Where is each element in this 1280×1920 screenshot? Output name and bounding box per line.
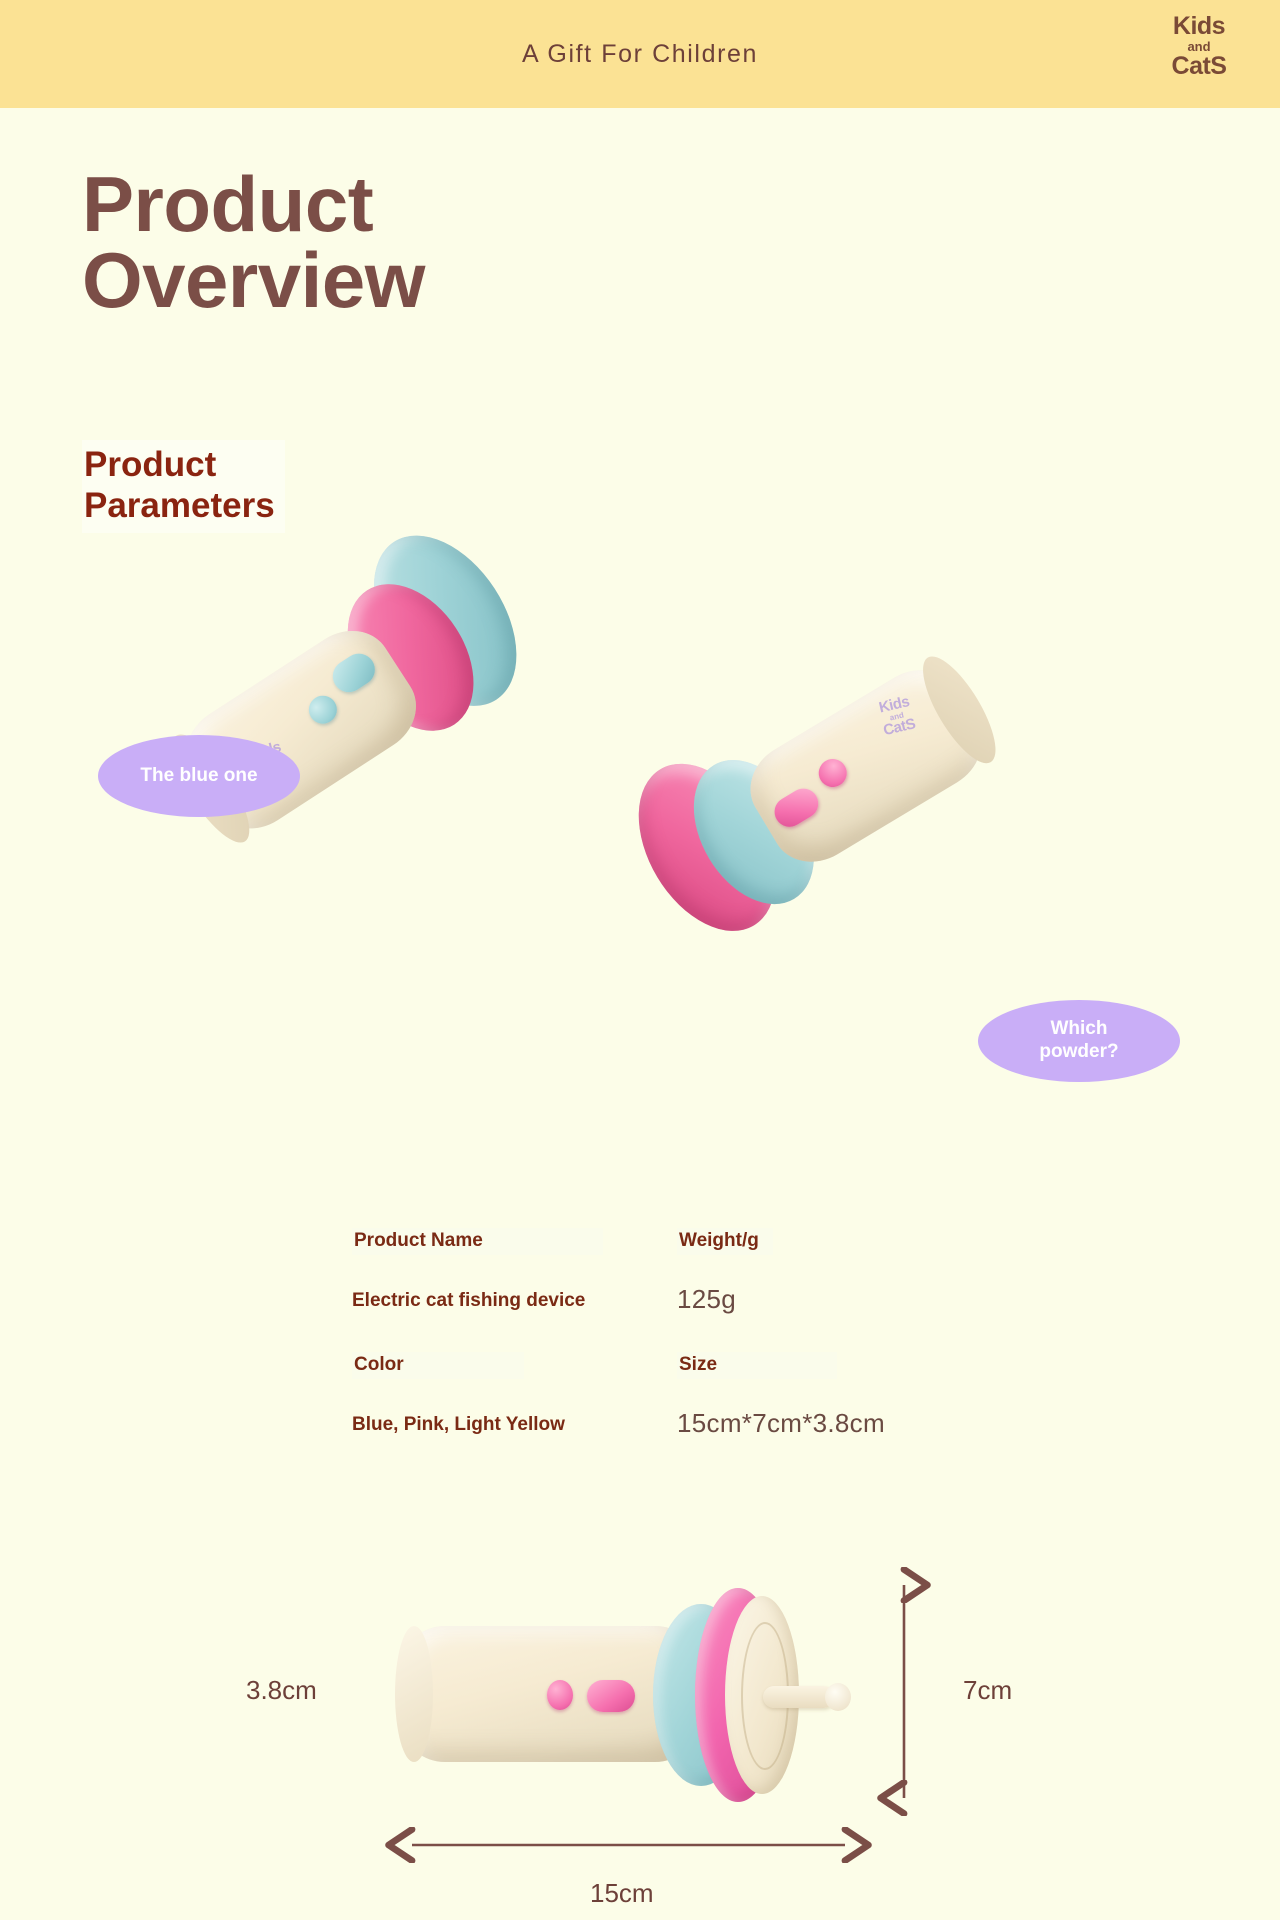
- callout-bubble-which-powder: Which powder?: [978, 1000, 1180, 1082]
- header-title: A Gift For Children: [522, 40, 758, 69]
- product-name-value-cell: Electric cat fishing device: [352, 1290, 585, 1312]
- brand-logo-line1: Kids: [1144, 14, 1254, 39]
- color-label-cell: Color: [352, 1352, 524, 1379]
- section-subtitle-container: Product Parameters: [82, 440, 285, 533]
- length-dimension-label: 15cm: [590, 1878, 654, 1909]
- brand-logo: Kids and CatS: [1144, 14, 1254, 79]
- size-value-cell: 15cm*7cm*3.8cm: [677, 1408, 885, 1439]
- color-value: Blue, Pink, Light Yellow: [352, 1414, 565, 1435]
- weight-label: Weight/g: [677, 1228, 773, 1255]
- dimension-diagram: 3.8cm 7cm 15cm: [0, 1540, 1280, 1920]
- weight-value-cell: 125g: [677, 1284, 736, 1315]
- color-label: Color: [352, 1352, 524, 1379]
- size-value: 15cm*7cm*3.8cm: [677, 1408, 885, 1438]
- brand-logo-line3: CatS: [1144, 54, 1254, 79]
- depth-dimension-label: 3.8cm: [246, 1675, 317, 1706]
- table-row: Product Name Weight/g: [352, 1228, 992, 1290]
- color-value-cell: Blue, Pink, Light Yellow: [352, 1414, 565, 1436]
- dimension-arrows: [0, 1540, 1280, 1920]
- height-dimension-label: 7cm: [963, 1675, 1012, 1706]
- table-row: Blue, Pink, Light Yellow 15cm*7cm*3.8cm: [352, 1414, 992, 1476]
- table-row: Electric cat fishing device 125g: [352, 1290, 992, 1352]
- size-label-cell: Size: [677, 1352, 837, 1379]
- callout-bubble-blue-one: The blue one: [98, 735, 300, 817]
- size-label: Size: [677, 1352, 837, 1379]
- table-row: Color Size: [352, 1352, 992, 1414]
- product-parameters-table: Product Name Weight/g Electric cat fishi…: [352, 1228, 992, 1476]
- section-subtitle: Product Parameters: [84, 444, 275, 527]
- product-name-value: Electric cat fishing device: [352, 1290, 585, 1311]
- weight-label-cell: Weight/g: [677, 1228, 773, 1255]
- product-name-label-cell: Product Name: [352, 1228, 603, 1255]
- weight-value: 125g: [677, 1284, 736, 1314]
- page-header: A Gift For Children Kids and CatS: [0, 0, 1280, 108]
- product-photo-stage: Kids and CatS Kids and CatS The blue one…: [0, 600, 1280, 1120]
- product-name-label: Product Name: [352, 1228, 603, 1255]
- page-title: Product Overview: [82, 166, 425, 319]
